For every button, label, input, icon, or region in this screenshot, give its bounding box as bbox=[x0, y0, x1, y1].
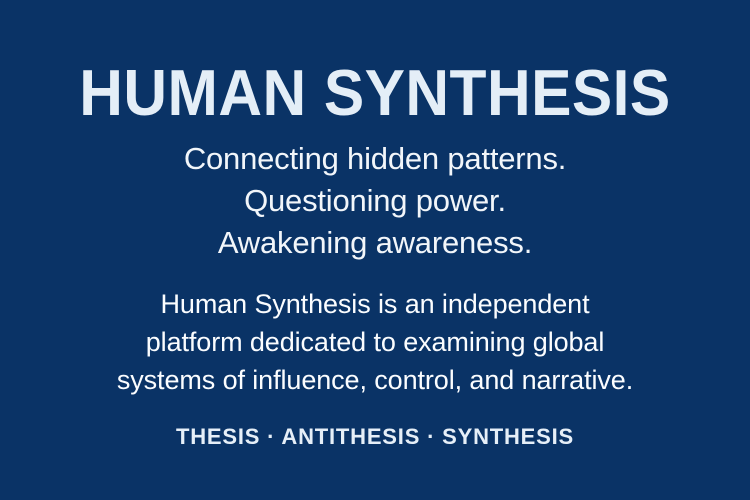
tagline-line-3: Awakening awareness. bbox=[0, 222, 750, 264]
page-title: HUMAN SYNTHESIS bbox=[26, 60, 724, 125]
tagline-line-2: Questioning power. bbox=[0, 180, 750, 222]
description-line-2: platform dedicated to examining global bbox=[0, 323, 750, 361]
hero-banner: HUMAN SYNTHESIS Connecting hidden patter… bbox=[0, 0, 750, 500]
description-block: Human Synthesis is an independent platfo… bbox=[0, 285, 750, 399]
description-line-3: systems of influence, control, and narra… bbox=[0, 361, 750, 399]
tagline-block: Connecting hidden patterns. Questioning … bbox=[0, 138, 750, 264]
tagline-line-1: Connecting hidden patterns. bbox=[0, 138, 750, 180]
description-line-1: Human Synthesis is an independent bbox=[0, 285, 750, 323]
motto-text: THESIS · ANTITHESIS · SYNTHESIS bbox=[0, 424, 750, 450]
